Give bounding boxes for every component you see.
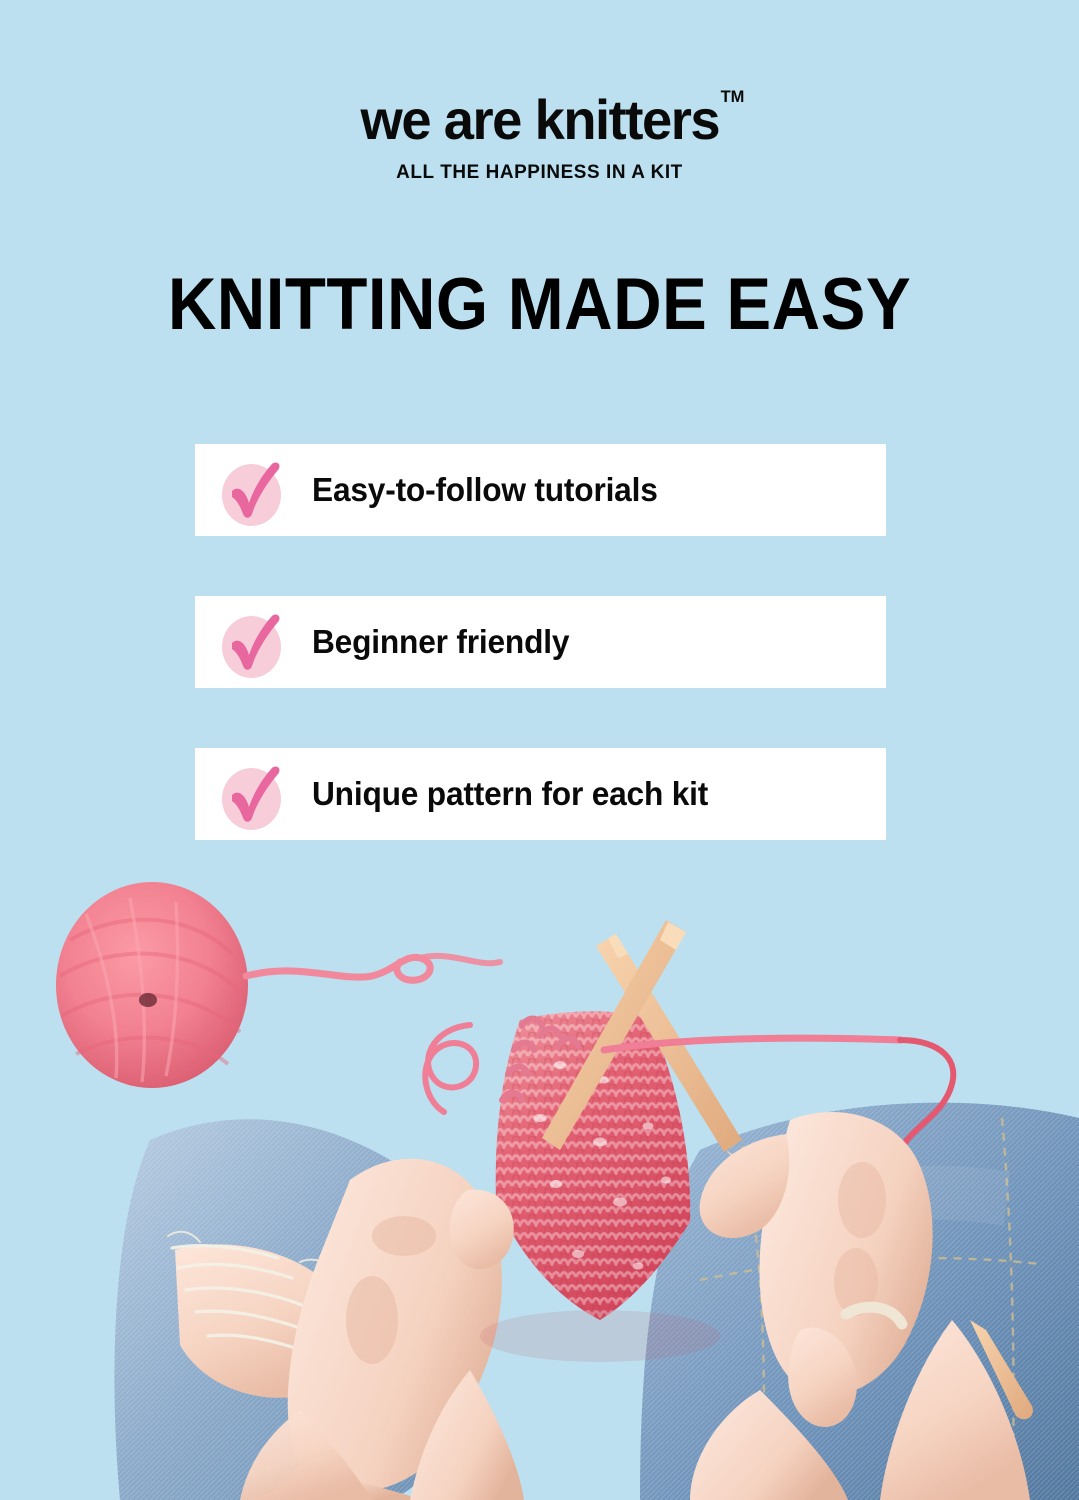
pink-checkmark-icon: [220, 761, 286, 827]
hero-photo-knitting: [0, 850, 1079, 1500]
feature-card-unique-pattern: Unique pattern for each kit: [195, 748, 886, 840]
logo-tagline: ALL THE HAPPINESS IN A KIT: [16, 161, 1063, 184]
brand-logo: we are knittersTM ALL THE HAPPINESS IN A…: [0, 92, 1079, 184]
hero-photo-artwork: [0, 850, 1079, 1500]
feature-list: Easy-to-follow tutorials Beginner friend…: [195, 444, 886, 840]
poster-canvas: we are knittersTM ALL THE HAPPINESS IN A…: [0, 0, 1079, 1500]
pink-checkmark-icon: [220, 457, 286, 523]
trademark-icon: TM: [720, 88, 744, 105]
feature-label: Unique pattern for each kit: [312, 775, 708, 813]
feature-label: Beginner friendly: [312, 623, 569, 661]
feature-card-beginner: Beginner friendly: [195, 596, 886, 688]
pink-checkmark-icon: [220, 609, 286, 675]
logo-wordmark: we are knittersTM: [360, 92, 719, 148]
checkmark-glyph: [220, 457, 286, 523]
logo-wordmark-text: we are knitters: [360, 88, 719, 151]
checkmark-glyph: [220, 609, 286, 675]
feature-card-tutorials: Easy-to-follow tutorials: [195, 444, 886, 536]
feature-label: Easy-to-follow tutorials: [312, 471, 658, 509]
checkmark-glyph: [220, 761, 286, 827]
page-title: KNITTING MADE EASY: [43, 268, 1036, 341]
